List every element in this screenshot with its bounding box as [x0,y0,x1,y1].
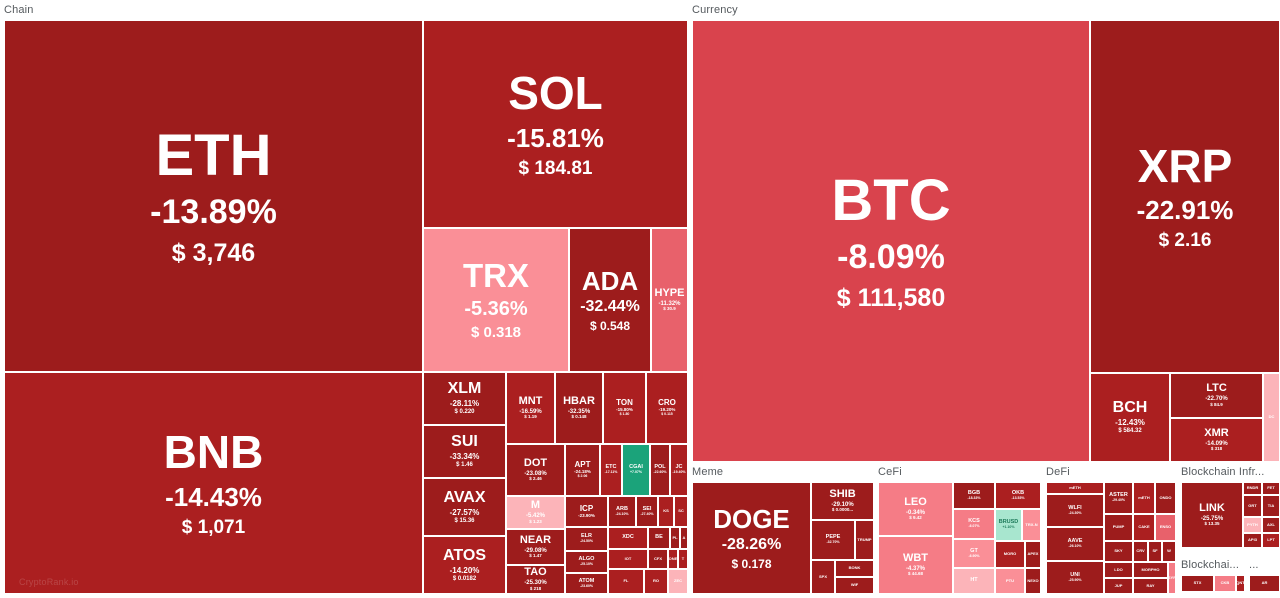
sector-body-chain: ETH -13.89% $ 3,746 SOL -15.81% $ 184.81… [4,20,688,594]
tile-symbol: KS [663,509,669,513]
tile-price: $ 1.19 [524,415,537,420]
tile-symbol: HT [970,578,977,584]
tile-pol[interactable]: POL -22.60% [650,444,670,496]
tile-price: $ 1.46 [456,462,473,468]
tile-ht[interactable]: HT [953,568,995,594]
sector-label-blockchain-infra: Blockchain Infr... [1181,466,1264,479]
sector-body-meme: DOGE -28.26% $ 0.178 SHIB -29.10% $ 0.00… [692,482,874,594]
tile-api3[interactable]: API3 [1243,533,1262,548]
tile-crv[interactable]: CRV [1133,541,1148,562]
tile-symbol: HYPE [655,288,685,300]
tile-price: $ 13.35 [1204,522,1219,527]
sector-body-blockchain-secondary: STX CKB QNT [1181,575,1245,598]
tile-fet[interactable]: FET [1262,482,1280,495]
tile-symbol: SOL [508,69,603,117]
tile-price: $ 0.548 [590,320,630,333]
tile-change: -5.36% [464,299,527,320]
tile-ray[interactable]: RAY [1133,578,1168,594]
tile-gt[interactable]: GT -6.90% [953,539,995,568]
tile-ton[interactable]: TON -15.80% $ 1.80 [603,372,646,444]
tile-shib[interactable]: SHIB -29.10% $ 0.0000... [811,482,874,520]
tile-t[interactable]: T [678,549,688,569]
tile-price: $ 84.9 [1210,403,1223,408]
tile-iot[interactable]: IOT [608,549,648,569]
tile-avax[interactable]: AVAX -27.57% $ 15.36 [423,478,506,536]
tile-symbol: DC [1269,415,1275,419]
sector-label-defi: DeFi [1046,466,1070,479]
tile-symbol: ONE [669,557,678,561]
tile-price: $ 0.115 [661,413,672,417]
tile-xdc[interactable]: XDC [608,527,648,549]
tile-xmr[interactable]: XMR -14.09% $ 318 [1170,418,1263,462]
tile-symbol: A [683,536,686,540]
tile-aave[interactable]: AAVE -26.10% [1046,527,1104,561]
tile-trx[interactable]: TRX -5.36% $ 0.318 [423,228,569,372]
tile-change: -22.60% [653,471,666,475]
tile-change: -24.50% [580,540,593,544]
tile-symbol: FL [624,579,629,583]
tile-moro[interactable]: MORO [995,541,1025,568]
tile-change: -6.07% [968,525,979,529]
tile-price: $ 1.80 [620,413,630,417]
tile-hbar[interactable]: HBAR -32.35% $ 0.148 [555,372,603,444]
tile-wif[interactable]: WIF [835,577,874,594]
tile-symbol: ICP [580,505,593,513]
tile-ltc[interactable]: LTC -22.70% $ 84.9 [1170,373,1263,418]
tile-symbol: PYTH [1247,523,1258,527]
tile-syr[interactable]: SYR [1168,562,1176,594]
tile-xrp[interactable]: XRP -22.91% $ 2.16 [1090,20,1280,373]
tile-price: $ 0.178 [731,558,771,571]
tile-symbol: MORO [1004,552,1016,556]
tile-symbol: SPX [819,575,827,579]
tile-symbol: PTU [1006,579,1014,583]
tile-lpt[interactable]: LPT [1262,533,1280,548]
tile-symbol: TAO [524,567,546,579]
tile-change: -23.90% [578,514,595,519]
tile-symbol: BNB [164,428,264,476]
tile-tia[interactable]: TIA [1262,495,1280,517]
tile-symbol: AXL [1267,523,1275,527]
tile-dot[interactable]: DOT -23.08% $ 2.46 [506,444,565,496]
tile-jc[interactable]: JC -19.40% [670,444,688,496]
tile-symbol: RNDR [1247,486,1259,490]
tile-meth[interactable]: mETH [1046,482,1104,494]
tile-price: $ 2.06 [578,475,588,479]
tile-change: -27.57% [450,509,480,517]
tile-etc[interactable]: ETC -17.11% [600,444,622,496]
tile-symbol: SYR [1168,576,1176,580]
tile-link[interactable]: LINK -25.75% $ 13.35 [1181,482,1243,548]
tile-apex[interactable]: APEX [1025,541,1041,568]
sector-label-chain: Chain [4,4,34,17]
tile-apt[interactable]: APT -24.18% $ 2.06 [565,444,600,496]
tile-change: -29.40% [1112,499,1125,503]
tile-change: -25.90% [1068,579,1081,583]
tile-symbol: SF [1152,549,1157,553]
tile-stx[interactable]: STX [1181,575,1214,592]
tile-change: -32.70% [826,541,839,545]
sector-meme: Meme DOGE -28.26% $ 0.178 SHIB -29.10% $… [692,466,874,594]
tile-symbol: HBAR [563,396,595,408]
tile-symbol: XRP [1138,142,1233,190]
tile-symbol: NEAR [520,535,551,547]
tile-symbol: AR [1262,581,1268,585]
tile-price: $ 3,746 [172,240,255,266]
tile-symbol: M [531,500,540,512]
tile-symbol: RAY [1146,584,1154,588]
tile-change: -6.90% [968,555,979,559]
tile-change: -15.81% [507,125,604,152]
tile-dc[interactable]: DC [1263,373,1280,462]
tile-symbol: MNT [519,396,543,408]
tile-symbol: TRX [463,259,529,294]
tile-jup[interactable]: JUP [1104,578,1133,594]
tile-ada[interactable]: ADA -32.44% $ 0.548 [569,228,651,372]
tile-change: -27.40% [640,513,653,517]
tile-symbol: MORPHO [1142,568,1160,572]
tile-change: -12.43% [1115,419,1145,427]
sector-body-defi: mETH WLFI -24.30% AAVE -26.10% UNI -25.9… [1046,482,1176,594]
tile-change: -14.20% [450,567,480,575]
tile-change: -8.09% [837,240,945,276]
tile-meth2[interactable]: mETH [1133,482,1155,514]
tile-symbol: TIA [1268,504,1274,508]
sector-blockchain-overflow: ... AR [1249,559,1280,598]
tile-brusd[interactable]: BRUSD +1.10% [995,509,1022,541]
tile-change: -18.33% [967,497,980,501]
tile-price: $ 9.42 [909,516,922,521]
tile-uni[interactable]: UNI -25.90% [1046,561,1104,594]
tile-symbol: XMR [1204,428,1228,440]
tile-change: -19.40% [672,471,685,475]
crypto-heatmap-treemap: Chain ETH -13.89% $ 3,746 SOL -15.81% $ … [0,0,1280,598]
tile-ar[interactable]: AR [1249,575,1280,592]
tile-symbol: CKB [1221,581,1230,585]
tile-ro[interactable]: RO [644,569,668,594]
sector-blockchain-infra: Blockchain Infr... LINK -25.75% $ 13.35 … [1181,466,1280,551]
tile-symbol: TRX-N [1025,523,1037,527]
tile-symbol: ONDO [1160,496,1172,500]
sector-chain: Chain ETH -13.89% $ 3,746 SOL -15.81% $ … [4,4,688,594]
tile-sf[interactable]: SF [1148,541,1162,562]
tile-symbol: W [1167,549,1171,553]
tile-change: -13.53% [1011,497,1024,501]
tile-symbol: GRT [1248,504,1256,508]
tile-sei[interactable]: SEI -27.40% [636,496,658,527]
sector-defi: DeFi mETH WLFI -24.30% AAVE -26.10% UNI … [1046,466,1176,594]
tile-trump[interactable]: TRUMP [855,520,874,560]
tile-symbol: BONK [849,566,861,570]
tile-symbol: LINK [1199,503,1225,515]
tile-btc[interactable]: BTC -8.09% $ 111,580 [692,20,1090,462]
tile-wbt[interactable]: WBT -4.37% $ 44.68 [878,536,953,594]
tile-change: -25.10% [580,563,593,567]
tile-price: $ 1,071 [182,518,245,538]
tile-symbol: APEX [1028,552,1039,556]
tile-symbol: WIF [851,583,858,587]
tile-symbol: SC [678,509,684,513]
tile-trxn[interactable]: TRX-N [1022,509,1041,541]
tile-aster[interactable]: ASTER -29.40% [1104,482,1133,514]
tile-change: -13.89% [150,195,277,231]
tile-eth[interactable]: ETH -13.89% $ 3,746 [4,20,423,372]
tile-a[interactable]: A [680,527,688,549]
tile-change: -24.10% [615,513,628,517]
tile-morpho[interactable]: MORPHO [1133,562,1168,578]
tile-symbol: NEXO [1027,579,1038,583]
tile-price: $ 1.47 [529,554,542,559]
tile-change: -24.30% [1068,512,1081,516]
sector-label-cefi: CeFi [878,466,902,479]
tile-symbol: BTC [831,171,950,232]
tile-price: $ 111,580 [837,285,945,311]
tile-rndr[interactable]: RNDR [1243,482,1262,495]
tile-bgb[interactable]: BGB -18.33% [953,482,995,509]
tile-near[interactable]: NEAR -29.08% $ 1.47 [506,529,565,565]
tile-symbol: XLM [448,381,482,398]
tile-symbol: RO [653,579,659,583]
tile-cake[interactable]: CAKE [1133,514,1155,541]
tile-symbol: QNT [1236,581,1244,585]
tile-symbol: JUP [1115,584,1123,588]
tile-nexo[interactable]: NEXO [1025,568,1041,594]
tile-change: -14.43% [165,484,262,511]
tile-cgai[interactable]: CGAI +7.07% [622,444,650,496]
sector-label-meme: Meme [692,466,723,479]
tile-symbol: LDO [1114,568,1122,572]
tile-price: $ 0.0182 [453,576,476,582]
sector-label-blockchain-secondary: Blockchai... [1181,559,1239,572]
tile-symbol: ENSO [1160,525,1171,529]
tile-price: $ 184.81 [519,159,593,179]
tile-price: $ 15.36 [454,518,474,524]
sector-body-currency: BTC -8.09% $ 111,580 XRP -22.91% $ 2.16 … [692,20,1280,462]
tile-symbol: SHIB [829,489,855,501]
tile-price: $ 0.0000... [832,508,853,513]
tile-okb[interactable]: OKB -13.53% [995,482,1041,509]
tile-price: $ 2.16 [1159,231,1212,251]
sector-cefi: CeFi LEO -0.34% $ 9.42 WBT -4.37% $ 44.6… [878,466,1041,594]
tile-kcs[interactable]: KCS -6.07% [953,509,995,539]
tile-symbol: ZEC [674,579,682,583]
tile-price: $ 0.220 [454,409,474,415]
tile-price: $ 2.46 [529,477,542,482]
tile-symbol: BCH [1113,400,1148,417]
tile-change: -28.11% [450,400,479,408]
tile-price: $ 30.9 [663,307,676,312]
tile-symbol: SUI [451,434,478,451]
tile-change: -32.44% [580,299,640,316]
tile-symbol: TRUMP [857,538,871,542]
sector-currency: Currency BTC -8.09% $ 111,580 XRP -22.91… [692,4,1280,462]
tile-symbol: LPT [1267,538,1275,542]
tile-symbol: CRV [1136,549,1144,553]
tile-ks[interactable]: KS [658,496,674,527]
tile-symbol: IOT [625,557,632,561]
tile-price: $ 44.68 [908,572,923,577]
tile-xlm[interactable]: XLM -28.11% $ 0.220 [423,372,506,425]
tile-price: $ 584.32 [1118,428,1141,434]
tile-change: +7.07% [630,471,642,475]
tile-leo[interactable]: LEO -0.34% $ 9.42 [878,482,953,536]
sector-body-blockchain-overflow: AR [1249,575,1280,598]
tile-symbol: AVAX [443,490,485,507]
tile-wlfi[interactable]: WLFI -24.30% [1046,494,1104,527]
tile-zec[interactable]: ZEC [668,569,688,594]
tile-symbol: DOT [524,458,547,470]
watermark-cryptorank: CryptoRank.io [19,578,79,587]
tile-change: +1.10% [1003,526,1015,530]
tile-axl[interactable]: AXL [1262,517,1280,533]
sector-blockchain-secondary: Blockchai... STX CKB QNT [1181,559,1245,598]
tile-ondo[interactable]: ONDO [1155,482,1176,514]
tile-ldo[interactable]: LDO [1104,562,1133,578]
tile-change: -22.91% [1137,197,1234,224]
tile-symbol: PUMP [1113,525,1125,529]
tile-symbol: ETH [156,126,272,187]
tile-symbol: DOGE [713,506,790,533]
tile-price: $ 0.318 [471,325,521,341]
tile-symbol: API3 [1248,538,1257,542]
tile-icp[interactable]: ICP -23.90% [565,496,608,527]
sector-body-cefi: LEO -0.34% $ 9.42 WBT -4.37% $ 44.68 BGB… [878,482,1041,594]
tile-change: -26.10% [1068,545,1081,549]
tile-symbol: LEO [904,497,927,509]
tile-tao[interactable]: TAO -25.30% $ 218 [506,565,565,594]
tile-m[interactable]: M -5.42% $ 1.23 [506,496,565,529]
tile-sky[interactable]: SKY [1104,541,1133,562]
tile-symbol: STX [1194,581,1202,585]
tile-sc[interactable]: SC [674,496,688,527]
tile-bonk[interactable]: BONK [835,560,874,577]
tile-algo[interactable]: ALGO -25.10% [565,551,608,573]
tile-bch[interactable]: BCH -12.43% $ 584.32 [1090,373,1170,462]
tile-elr[interactable]: ELR -24.50% [565,527,608,551]
sector-label-currency: Currency [692,4,738,17]
tile-symbol: LTC [1206,383,1227,395]
tile-sol[interactable]: SOL -15.81% $ 184.81 [423,20,688,228]
tile-price: $ 218 [530,587,541,592]
tile-one[interactable]: ONE [668,549,678,569]
tile-change: -23.60% [580,585,593,589]
tile-symbol: ADA [582,268,638,295]
tile-cro[interactable]: CRO -19.20% $ 0.115 [646,372,688,444]
tile-atos[interactable]: ATOS -14.20% $ 0.0182 [423,536,506,594]
tile-price: $ 318 [1211,447,1222,452]
tile-sui[interactable]: SUI -33.34% $ 1.46 [423,425,506,478]
tile-change: -17.11% [605,471,618,475]
tile-symbol: FET [1267,486,1275,490]
tile-symbol: T [682,557,684,561]
sector-label-blockchain-overflow: ... [1249,559,1259,572]
tile-enso[interactable]: ENSO [1155,514,1176,541]
tile-symbol: BE [655,535,663,541]
tile-mnt[interactable]: MNT -16.59% $ 1.19 [506,372,555,444]
tile-pump[interactable]: PUMP [1104,514,1133,541]
tile-symbol: mETH [1138,496,1150,500]
tile-price: $ 0.148 [571,415,586,420]
tile-symbol: CFX [654,557,662,561]
tile-be[interactable]: BE [648,527,670,549]
tile-pepe[interactable]: PEPE -32.70% [811,520,855,560]
tile-w[interactable]: W [1162,541,1176,562]
tile-hype[interactable]: HYPE -11.32% $ 30.9 [651,228,688,372]
tile-pl[interactable]: PL [670,527,680,549]
tile-symbol: WBT [903,553,928,565]
tile-pyth[interactable]: PYTH [1243,517,1262,533]
tile-ckb[interactable]: CKB [1214,575,1236,592]
tile-symbol: ATOS [443,548,486,565]
tile-change: -33.34% [450,453,480,461]
tile-arb[interactable]: ARB -24.10% [608,496,636,527]
tile-price: $ 1.23 [529,520,542,525]
tile-symbol: XDC [622,535,634,541]
tile-change: -28.26% [722,537,782,554]
tile-spx[interactable]: SPX [811,560,835,594]
tile-symbol: CAKE [1138,525,1149,529]
tile-ptu[interactable]: PTU [995,568,1025,594]
tile-symbol: mETH [1069,486,1081,490]
tile-fl[interactable]: FL [608,569,644,594]
tile-symbol: SKY [1114,549,1122,553]
tile-atom[interactable]: ATOM -23.60% [565,573,608,594]
sector-body-blockchain-infra: LINK -25.75% $ 13.35 RNDR FET GRT TIA PY… [1181,482,1280,551]
tile-qnt[interactable]: QNT [1236,575,1245,592]
tile-grt[interactable]: GRT [1243,495,1262,517]
tile-symbol: PL [672,536,677,540]
tile-cfx[interactable]: CFX [648,549,668,569]
tile-bnb[interactable]: BNB -14.43% $ 1,071 CryptoRank.io [4,372,423,594]
tile-doge[interactable]: DOGE -28.26% $ 0.178 [692,482,811,594]
